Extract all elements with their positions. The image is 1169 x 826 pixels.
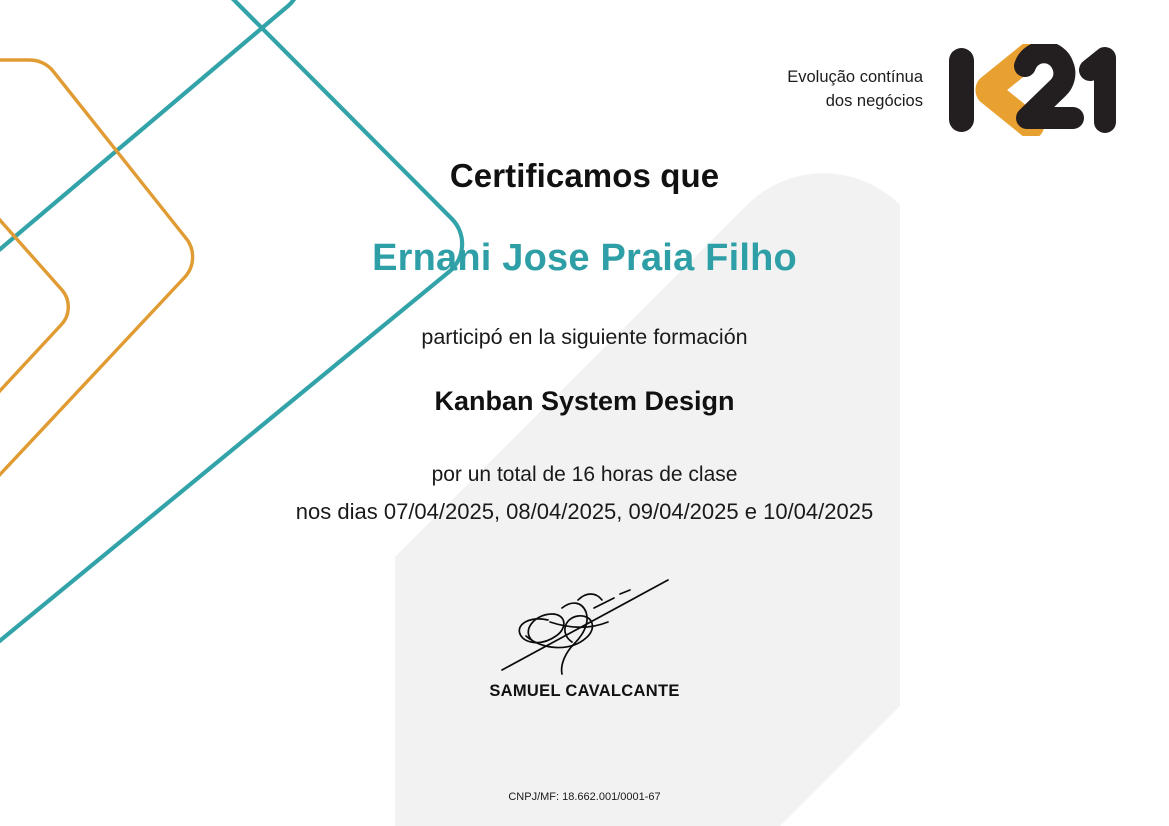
certificate-page: Evolução contínua dos negócios Certifica… [0,0,1169,826]
signer-name: SAMUEL CAVALCANTE [0,682,1169,701]
recipient-name: Ernani Jose Praia Filho [0,237,1169,280]
signature-area: SAMUEL CAVALCANTE [0,572,1169,701]
participation-text: participó en la siguiente formación [0,325,1169,350]
brand-tagline: Evolução contínua dos negócios [787,66,923,114]
hours-text: por un total de 16 horas de clase [0,463,1169,487]
dates-text: nos dias 07/04/2025, 08/04/2025, 09/04/2… [0,499,1169,525]
handwritten-signature-icon [490,572,680,677]
page-title: Certificamos que [0,157,1169,195]
course-title: Kanban System Design [0,386,1169,417]
brand-tagline-line2: dos negócios [787,90,923,114]
footer-cnpj: CNPJ/MF: 18.662.001/0001-67 [0,791,1169,803]
k21-logo-icon [945,44,1127,136]
brand-tagline-line1: Evolução contínua [787,66,923,90]
brand-logo-block: Evolução contínua dos negócios [787,44,1127,136]
